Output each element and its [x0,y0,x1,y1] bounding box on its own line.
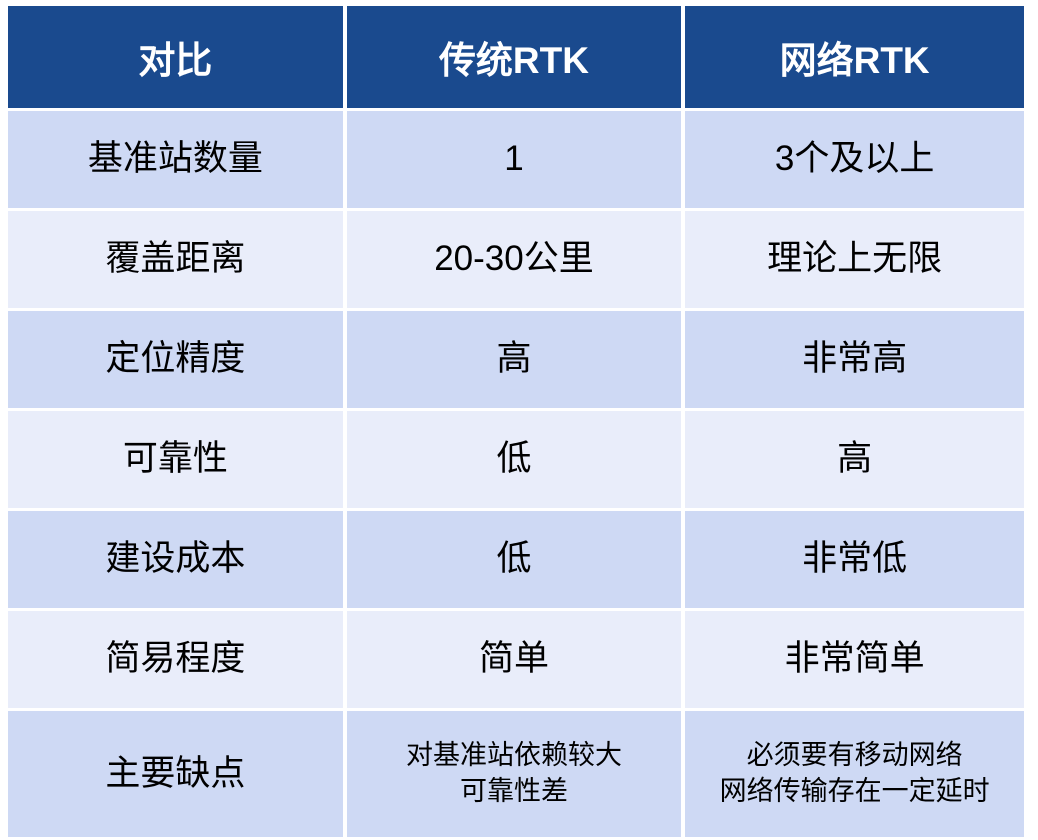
cell-network-base-station-count: 3个及以上 [685,111,1024,208]
row-label-main-drawbacks: 主要缺点 [8,711,343,837]
cell-traditional-ease-of-use: 简单 [347,611,682,708]
row-label-construction-cost: 建设成本 [8,511,343,608]
cell-text-line: 对基准站依赖较大 [347,738,682,774]
cell-network-reliability: 高 [685,411,1024,508]
cell-traditional-main-drawbacks: 对基准站依赖较大 可靠性差 [347,711,682,837]
table-row: 可靠性 低 高 [8,411,1024,508]
cell-network-construction-cost: 非常低 [685,511,1024,608]
cell-traditional-positioning-accuracy: 高 [347,311,682,408]
header-cell-network-rtk: 网络RTK [685,6,1024,108]
table-row: 基准站数量 1 3个及以上 [8,111,1024,208]
table-row: 建设成本 低 非常低 [8,511,1024,608]
table-header: 对比 传统RTK 网络RTK [8,6,1024,108]
table-row: 覆盖距离 20-30公里 理论上无限 [8,211,1024,308]
row-label-base-station-count: 基准站数量 [8,111,343,208]
table-row: 简易程度 简单 非常简单 [8,611,1024,708]
row-label-positioning-accuracy: 定位精度 [8,311,343,408]
cell-network-ease-of-use: 非常简单 [685,611,1024,708]
cell-traditional-construction-cost: 低 [347,511,682,608]
cell-network-coverage-distance: 理论上无限 [685,211,1024,308]
comparison-table-container: 对比 传统RTK 网络RTK 基准站数量 1 3个及以上 覆盖距离 20-30公… [0,0,1038,839]
header-row: 对比 传统RTK 网络RTK [8,6,1024,108]
cell-text-line: 必须要有移动网络 [685,738,1024,774]
table-row: 定位精度 高 非常高 [8,311,1024,408]
cell-text-line: 网络传输存在一定延时 [685,774,1024,810]
row-label-reliability: 可靠性 [8,411,343,508]
rtk-comparison-table: 对比 传统RTK 网络RTK 基准站数量 1 3个及以上 覆盖距离 20-30公… [4,3,1028,840]
cell-traditional-base-station-count: 1 [347,111,682,208]
header-cell-traditional-rtk: 传统RTK [347,6,682,108]
row-label-ease-of-use: 简易程度 [8,611,343,708]
row-label-coverage-distance: 覆盖距离 [8,211,343,308]
cell-text-line: 可靠性差 [347,774,682,810]
table-body: 基准站数量 1 3个及以上 覆盖距离 20-30公里 理论上无限 定位精度 高 … [8,111,1024,837]
cell-traditional-coverage-distance: 20-30公里 [347,211,682,308]
cell-network-main-drawbacks: 必须要有移动网络 网络传输存在一定延时 [685,711,1024,837]
table-row: 主要缺点 对基准站依赖较大 可靠性差 必须要有移动网络 网络传输存在一定延时 [8,711,1024,837]
cell-network-positioning-accuracy: 非常高 [685,311,1024,408]
header-cell-compare: 对比 [8,6,343,108]
cell-traditional-reliability: 低 [347,411,682,508]
